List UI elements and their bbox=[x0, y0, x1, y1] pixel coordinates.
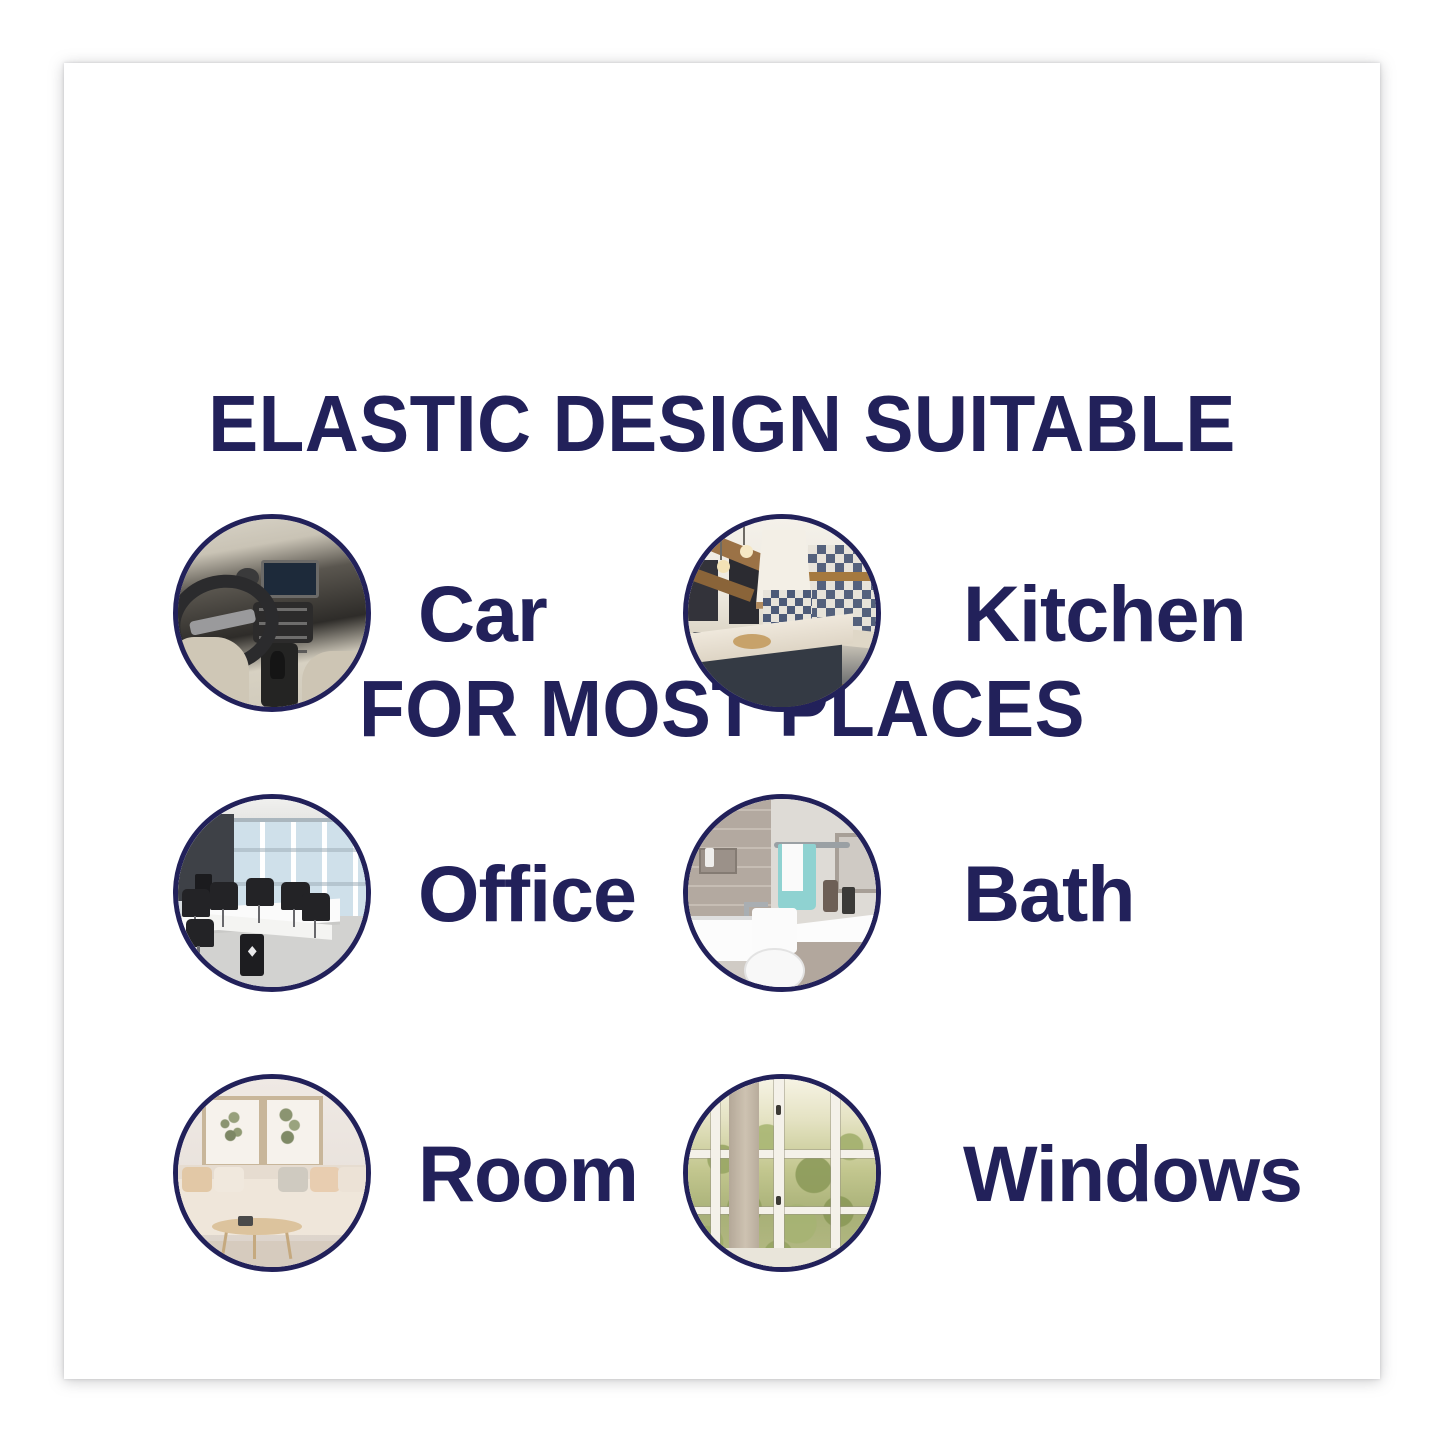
open-office-image bbox=[178, 799, 366, 987]
place-label-office: Office bbox=[418, 854, 636, 933]
place-label-car: Car bbox=[418, 574, 547, 653]
place-label-windows: Windows bbox=[963, 1134, 1302, 1213]
place-label-bath: Bath bbox=[963, 854, 1135, 933]
car-interior-image bbox=[178, 519, 366, 707]
place-tile-room: Room bbox=[173, 1074, 683, 1272]
place-tile-office: Office bbox=[173, 794, 683, 992]
windows-thumbnail bbox=[683, 1074, 881, 1272]
window-image bbox=[688, 1079, 876, 1267]
bathroom-image bbox=[688, 799, 876, 987]
bath-thumbnail bbox=[683, 794, 881, 992]
kitchen-thumbnail bbox=[683, 514, 881, 712]
office-thumbnail bbox=[173, 794, 371, 992]
place-tile-car: Car bbox=[173, 514, 683, 712]
place-tile-bath: Bath bbox=[683, 794, 1363, 992]
page-title-line-1: ELASTIC DESIGN SUITABLE bbox=[107, 376, 1337, 471]
infographic-card: ELASTIC DESIGN SUITABLE FOR MOST PLACES bbox=[64, 63, 1380, 1379]
room-thumbnail bbox=[173, 1074, 371, 1272]
place-label-room: Room bbox=[418, 1134, 638, 1213]
car-thumbnail bbox=[173, 514, 371, 712]
place-tile-windows: Windows bbox=[683, 1074, 1363, 1272]
place-label-kitchen: Kitchen bbox=[963, 574, 1246, 653]
living-room-image bbox=[178, 1079, 366, 1267]
places-grid: Car bbox=[173, 473, 1363, 1313]
place-tile-kitchen: Kitchen bbox=[683, 514, 1363, 712]
product-infographic-page: ELASTIC DESIGN SUITABLE FOR MOST PLACES bbox=[0, 0, 1445, 1445]
kitchen-image bbox=[688, 519, 876, 707]
